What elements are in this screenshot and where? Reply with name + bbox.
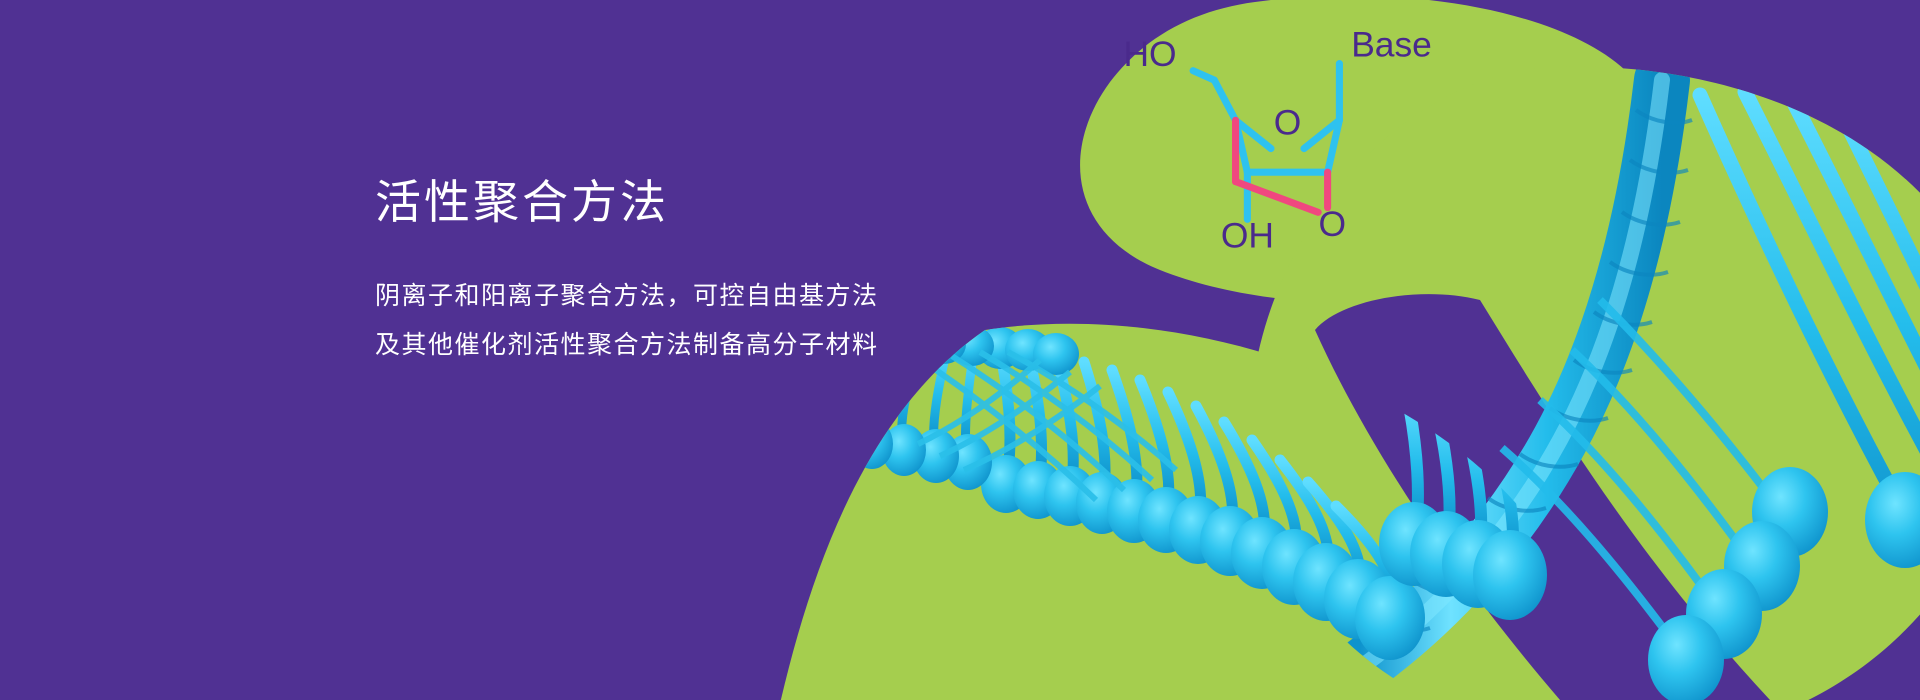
label-HO: HO bbox=[1123, 34, 1176, 74]
hero-banner: HO O Base OH O 活性聚合方法 阴离子和阳离子聚合方法，可控自由基方… bbox=[0, 0, 1920, 700]
label-Base: Base bbox=[1351, 25, 1432, 65]
hero-text-block: 活性聚合方法 阴离子和阳离子聚合方法，可控自由基方法 及其他催化剂活性聚合方法制… bbox=[375, 175, 1015, 370]
page-title: 活性聚合方法 bbox=[375, 175, 1015, 230]
label-carbonyl-oxygen: O bbox=[1319, 204, 1347, 244]
hero-subtitle-line-1: 阴离子和阳离子聚合方法，可控自由基方法 bbox=[375, 272, 1015, 321]
label-OH: OH bbox=[1221, 216, 1274, 256]
hero-subtitle-line-2: 及其他催化剂活性聚合方法制备高分子材料 bbox=[375, 321, 1015, 370]
label-ring-oxygen: O bbox=[1274, 102, 1302, 142]
